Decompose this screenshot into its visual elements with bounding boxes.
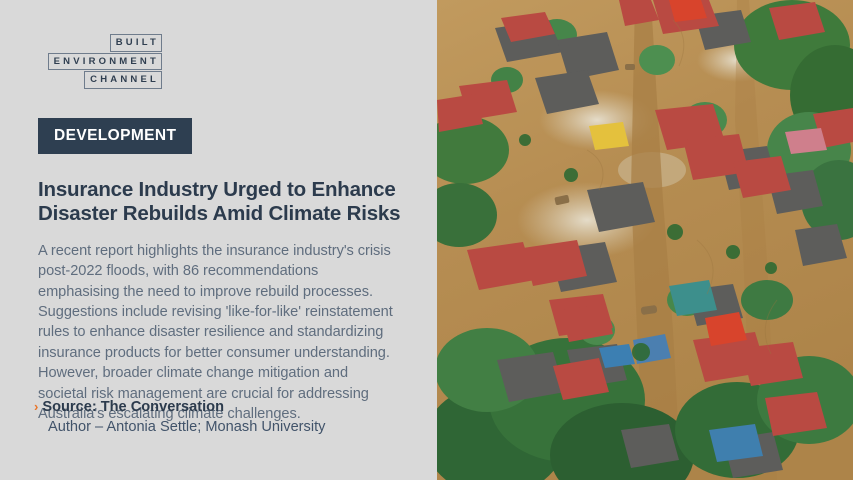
logo-line-channel: CHANNEL bbox=[84, 71, 162, 89]
logo-line-built: BUILT bbox=[110, 34, 162, 52]
source-footer: › Source: The Conversation Author – Anto… bbox=[34, 398, 414, 438]
source-label: Source: The Conversation bbox=[42, 398, 224, 416]
logo-line-environment: ENVIRONMENT bbox=[48, 53, 162, 71]
flood-photo bbox=[437, 0, 853, 480]
brand-logo: BUILT ENVIRONMENT CHANNEL bbox=[38, 34, 162, 90]
article-card: BUILT ENVIRONMENT CHANNEL DEVELOPMENT In… bbox=[0, 0, 853, 480]
source-row: › Source: The Conversation bbox=[34, 398, 414, 416]
category-badge[interactable]: DEVELOPMENT bbox=[38, 118, 192, 154]
chevron-right-icon: › bbox=[34, 399, 38, 415]
article-summary: A recent report highlights the insurance… bbox=[38, 241, 398, 425]
page-title: Insurance Industry Urged to Enhance Disa… bbox=[38, 178, 405, 227]
flood-photo-illustration bbox=[437, 0, 853, 480]
author-label: Author – Antonia Settle; Monash Universi… bbox=[34, 418, 414, 438]
content-panel: BUILT ENVIRONMENT CHANNEL DEVELOPMENT In… bbox=[0, 0, 437, 480]
